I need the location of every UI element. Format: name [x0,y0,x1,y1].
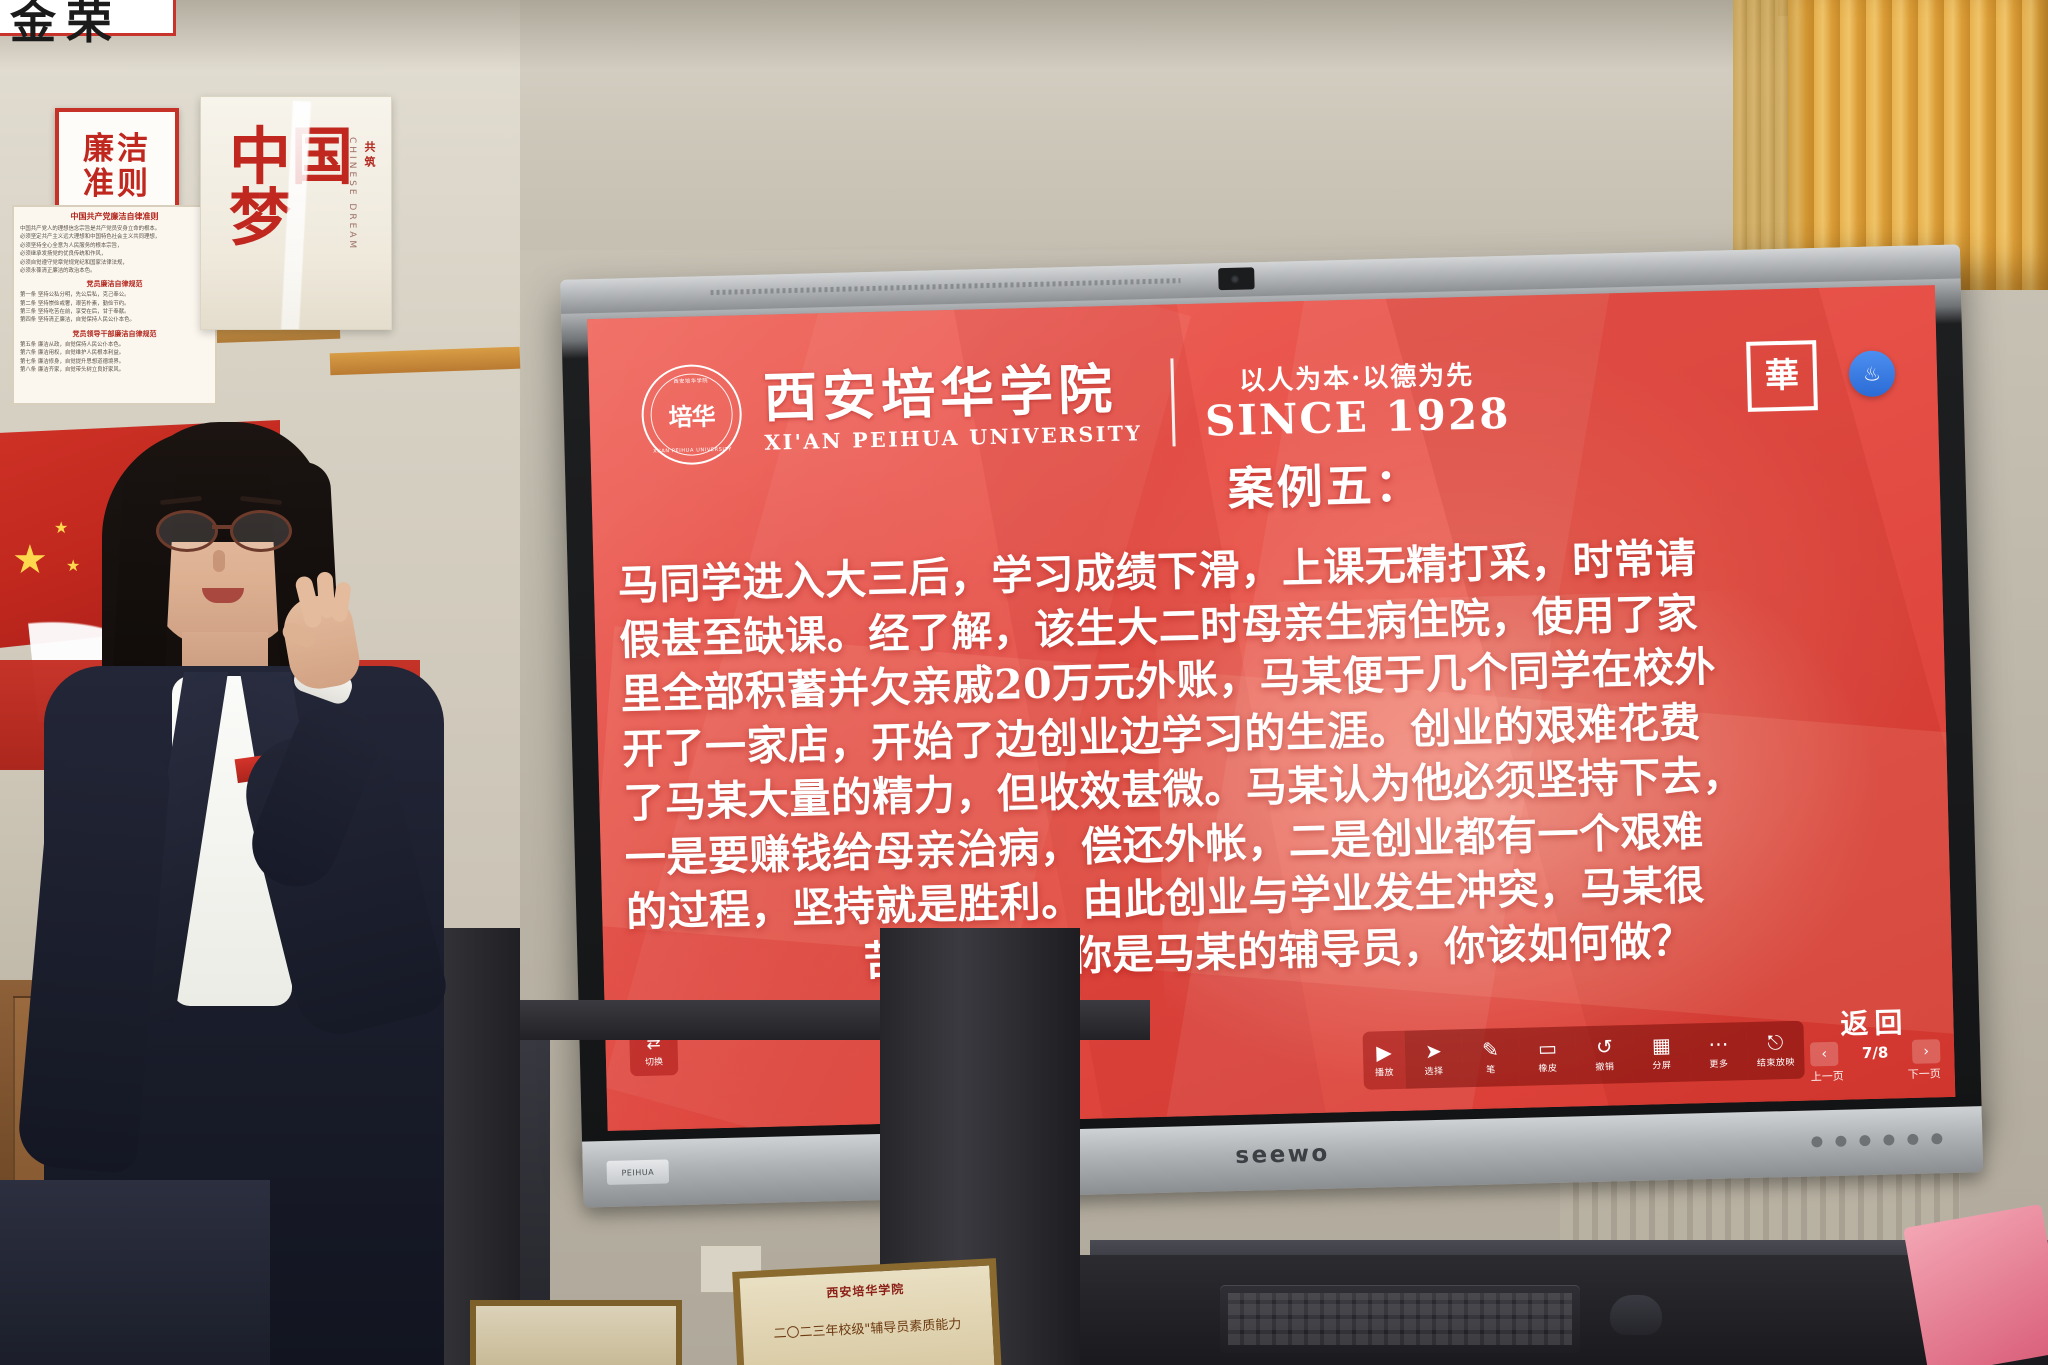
toolbar-label: 结束放映 [1757,1055,1795,1069]
prev-page-icon[interactable]: ‹ [1810,1042,1839,1067]
crest-arc-top: 西安培华学院 [673,377,708,385]
laptop[interactable] [1903,1204,2048,1365]
university-name-block: 西安培华学院 XI'AN PEIHUA UNIVERSITY [763,361,1143,455]
seewo-interactive-display[interactable]: 西安培华学院 培华 XI'AN PEIHUA UNIVERSITY 西安培华学院… [560,244,1984,1229]
toolbar-pen-button[interactable]: ✎ 笔 [1461,1028,1519,1087]
regulations-s3-line: 第七条 廉洁修身，自觉提升思想道德境界。 [20,358,209,366]
slide-body-text: 马同学进入大三后，学习成绩下滑，上课无精打采，时常请 假甚至缺课。经了解，该生大… [617,526,1930,995]
eraser-icon: ▭ [1538,1038,1557,1058]
nose [213,550,225,572]
regulations-s2-line: 第三条 坚持吃苦在前，享受在后，甘于奉献。 [20,308,209,316]
regulations-title: 中国共产党廉洁自律准则 [20,211,209,222]
regulations-s3-line: 第八条 廉洁齐家，自觉带头树立良好家风。 [20,366,209,374]
toolbar-label: 选择 [1424,1064,1443,1077]
poster-integrity-line1: 廉洁 [83,133,151,166]
toolbar-label: 更多 [1709,1057,1728,1070]
regulations-s2-line: 第四条 坚持清正廉洁，自觉保持人民公仆本色。 [20,316,209,324]
next-page-label[interactable]: 下一页 [1908,1065,1941,1082]
toolbar-eraser-button[interactable]: ▭ 橡皮 [1518,1026,1576,1085]
certificate-line2: 二〇二三年校级"辅导员素质能力 [773,1313,962,1342]
port-icon[interactable] [1931,1133,1942,1144]
port-icon[interactable] [1835,1136,1846,1147]
undo-icon: ↺ [1596,1036,1613,1056]
port-icon[interactable] [1883,1134,1894,1145]
toolbar-label: 播放 [1375,1065,1394,1078]
keyboard[interactable] [1220,1285,1580,1353]
camera-icon [1218,267,1255,290]
framed-certificate-secondary [470,1300,682,1365]
pen-icon: ✎ [1482,1039,1499,1059]
regulations-line: 必须坚持全心全意为人民服务的根本宗旨， [20,242,209,250]
regulations-s2-line: 第一条 坚持公私分明，先公后私，克己奉公。 [20,291,209,299]
slide-pager[interactable]: 返回 ‹ 7/8 › 上一页 下一页 [1809,1008,1941,1084]
classroom-photo: 金荣 廉洁 准则 中国共产党廉洁自律准则 中国共产党人的理想信念宗旨是共产党员安… [0,0,2048,1365]
swap-button-label: 切换 [645,1055,663,1068]
glasses-bridge [212,525,232,529]
podium [0,1180,270,1365]
next-page-icon[interactable]: › [1912,1039,1941,1064]
regulations-line: 中国共产党人的理想信念宗旨是共产党员安身立命的根本。 [20,225,209,233]
regulations-s3-line: 第六条 廉洁用权，自觉维护人民根本利益。 [20,349,209,357]
poster-regulations: 中国共产党廉洁自律准则 中国共产党人的理想信念宗旨是共产党员安身立命的根本。 必… [12,205,217,405]
regulations-line: 必须自觉遵守党章党规党纪和国家法律法规， [20,259,209,267]
glasses-lens-left [156,510,218,552]
poster-chinese-dream: 中国梦 共筑 CHINESE DREAM [200,96,392,330]
seewo-toolbar[interactable]: ▶ 播放 ➤ 选择 ✎ 笔 ▭ 橡皮 [1362,1021,1804,1090]
pager-labels: 上一页 下一页 [1811,1065,1941,1084]
glasses-icon [156,510,296,546]
toolbar-exit-button[interactable]: ⎋ 结束放映 [1746,1021,1804,1080]
regulations-section3-title: 党员领导干部廉洁自律规范 [20,329,209,339]
regulations-s2-line: 第二条 坚持崇俭戒奢，艰苦朴素，勤俭节约。 [20,300,209,308]
page-indicator: 7/8 [1862,1044,1889,1063]
speaker-vent [711,278,1181,295]
more-icon: ⋯ [1708,1034,1728,1054]
grid-icon: ▦ [1652,1035,1671,1055]
regulations-line: 必须继承发扬党的优良传统和作风， [20,250,209,258]
poster-integrity-line2: 准则 [83,168,151,201]
regulations-s3-line: 第五条 廉洁从政，自觉保持人民公仆本色。 [20,341,209,349]
toolbar-select-button[interactable]: ➤ 选择 [1404,1029,1462,1088]
dream-vertical-text: 共筑 [361,141,377,171]
pager-row[interactable]: ‹ 7/8 › [1810,1039,1941,1066]
toolbar-play-button[interactable]: ▶ 播放 [1362,1031,1405,1090]
certificate-line1: 西安培华学院 [826,1280,905,1301]
toolbar-more-button[interactable]: ⋯ 更多 [1689,1022,1747,1081]
dream-english-text: CHINESE DREAM [347,137,357,251]
mouse[interactable] [1610,1295,1662,1335]
glasses-lens-right [230,510,292,552]
university-name-cn: 西安培华学院 [763,361,1142,425]
crest-arc-bottom: XI'AN PEIHUA UNIVERSITY [653,447,732,455]
motto-block: 以人为本·以德为先 SINCE 1928 [1204,353,1511,442]
header-divider [1170,358,1175,446]
seal-mark-text: 華 [1765,359,1800,394]
regulations-section2-title: 党员廉洁自律规范 [20,279,209,289]
play-icon: ▶ [1376,1042,1392,1062]
crest-center-text: 培华 [668,397,715,433]
port-icon[interactable] [1907,1134,1918,1145]
seal-mark-icon: 華 [1746,340,1818,412]
toolbar-label: 笔 [1486,1062,1496,1075]
toolbar-undo-button[interactable]: ↺ 撤销 [1575,1025,1633,1084]
poster-top-text: 金荣 [10,0,122,52]
framed-certificate: 西安培华学院 二〇二三年校级"辅导员素质能力 [732,1258,1002,1365]
cursor-icon: ➤ [1425,1041,1442,1061]
toolbar-label: 分屏 [1652,1058,1671,1071]
display-badge: PEIHUA [607,1159,670,1185]
prev-page-label[interactable]: 上一页 [1811,1068,1844,1085]
university-crest-icon: 西安培华学院 培华 XI'AN PEIHUA UNIVERSITY [640,363,742,465]
curtain-secondary [1733,0,1793,280]
since-year: SINCE 1928 [1205,392,1511,442]
toolbar-label: 橡皮 [1538,1061,1557,1074]
regulations-line: 必须坚定共产主义远大理想和中国特色社会主义共同理想， [20,233,209,241]
toolbar-split-button[interactable]: ▦ 分屏 [1632,1024,1690,1083]
return-label[interactable]: 返回 [1809,1008,1940,1039]
port-icon[interactable] [1859,1135,1870,1146]
display-ports[interactable] [1811,1133,1942,1147]
toolbar-label: 撤销 [1595,1059,1614,1072]
exit-icon: ⎋ [1767,1032,1783,1052]
display-brand-logo: seewo [1235,1141,1330,1169]
port-icon[interactable] [1811,1136,1822,1147]
regulations-line: 必须永葆清正廉洁的政治本色。 [20,267,209,275]
